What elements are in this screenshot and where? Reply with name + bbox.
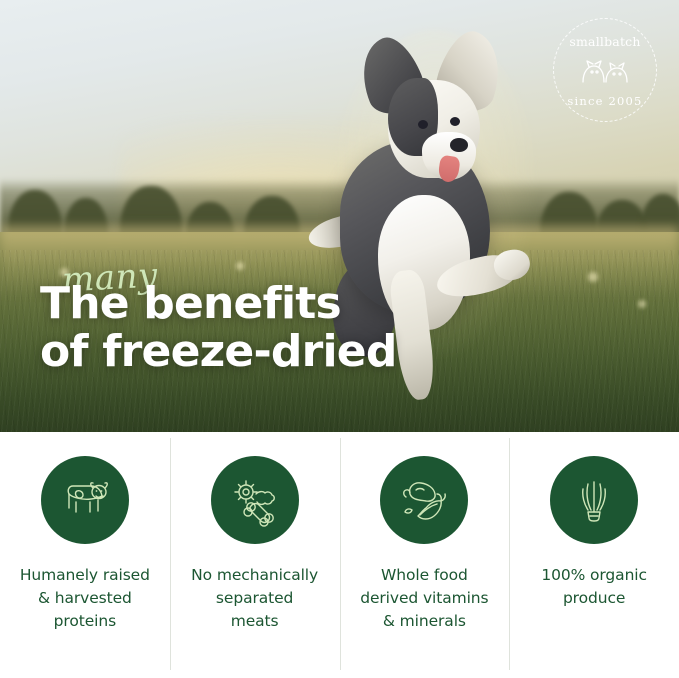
dog-nose [450, 138, 468, 152]
dog-and-cat-icon [579, 58, 631, 86]
hero-headline-line-2: of freeze-dried [40, 328, 397, 376]
logo-brand-name: smallbatch [553, 34, 657, 49]
feature-label: Humanely raised & harvested proteins [14, 564, 156, 633]
bokeh-light [638, 300, 646, 308]
feature-item-no-mechanically-separated: No mechanically separated meats [170, 432, 340, 678]
feature-item-humanely-raised: Humanely raised & harvested proteins [0, 432, 170, 678]
cow-icon [41, 456, 129, 544]
brand-logo: smallbatch [553, 18, 657, 122]
product-infographic-page: smallbatch [0, 0, 679, 678]
feature-label: 100% organic produce [535, 564, 653, 610]
hero-headline: The benefits of freeze-dried [40, 258, 397, 376]
feature-item-whole-food-vitamins: Whole food derived vitamins & minerals [340, 432, 510, 678]
dog-right-eye [450, 117, 460, 126]
dog-left-eye [418, 120, 428, 129]
bokeh-light [588, 272, 598, 282]
bone-gear-icon [211, 456, 299, 544]
feature-item-organic-produce: 100% organic produce [509, 432, 679, 678]
feature-label: Whole food derived vitamins & minerals [354, 564, 494, 633]
logo-since-text: since 2005 [553, 94, 657, 108]
hero-photo: smallbatch [0, 0, 679, 432]
sprout-icon [550, 456, 638, 544]
hero-headline-line-1: The benefits [40, 280, 397, 328]
feature-strip: Humanely raised & harvested proteins [0, 432, 679, 678]
meat-carrot-icon [380, 456, 468, 544]
feature-label: No mechanically separated meats [185, 564, 324, 633]
